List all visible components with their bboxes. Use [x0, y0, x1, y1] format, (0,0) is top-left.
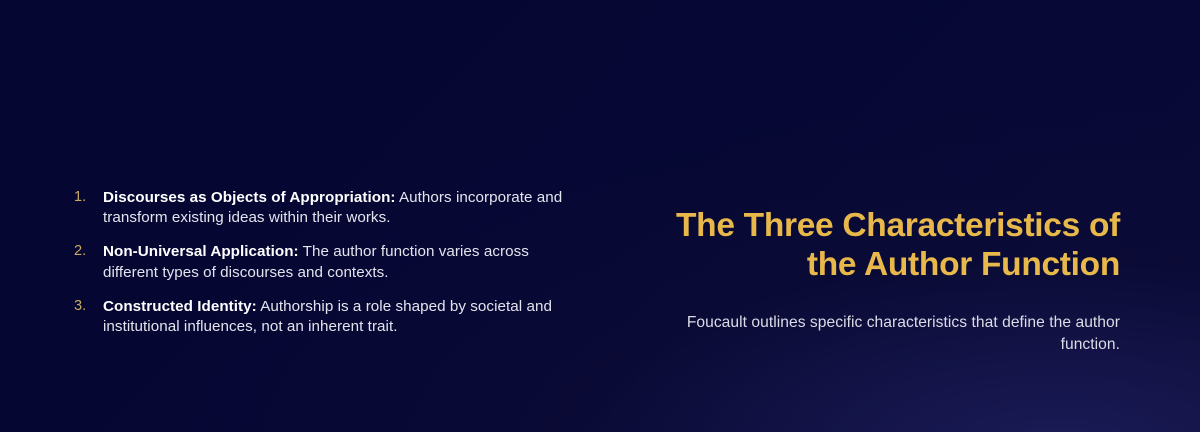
- list-item-marker: 1.: [74, 188, 98, 207]
- list-item-marker: 3.: [74, 297, 98, 316]
- page-subtitle: Foucault outlines specific characteristi…: [650, 312, 1120, 355]
- list-item: 2.Non-Universal Application: The author …: [68, 242, 568, 282]
- list-item-label: Discourses as Objects of Appropriation:: [103, 189, 396, 206]
- page-title: The Three Characteristics of the Author …: [650, 206, 1120, 284]
- characteristics-list-column: 1.Discourses as Objects of Appropriation…: [68, 188, 568, 337]
- list-item-marker: 2.: [74, 242, 98, 261]
- heading-column: The Three Characteristics of the Author …: [650, 206, 1120, 355]
- list-item: 1.Discourses as Objects of Appropriation…: [68, 188, 568, 228]
- list-item-label: Constructed Identity:: [103, 298, 257, 315]
- characteristics-list: 1.Discourses as Objects of Appropriation…: [68, 188, 568, 337]
- list-item: 3.Constructed Identity: Authorship is a …: [68, 297, 568, 337]
- slide-canvas: 1.Discourses as Objects of Appropriation…: [0, 0, 1200, 432]
- list-item-label: Non-Universal Application:: [103, 243, 299, 260]
